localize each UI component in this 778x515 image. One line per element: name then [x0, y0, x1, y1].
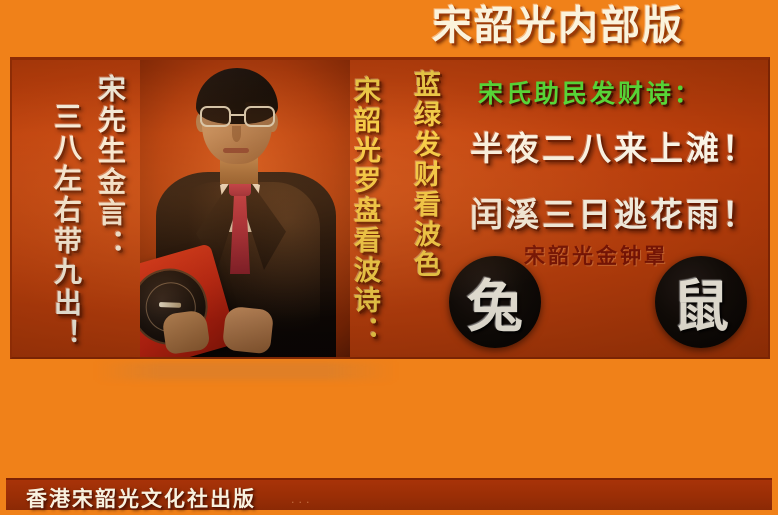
golden-bell-subtitle: 宋韶光金钟罩: [524, 240, 668, 270]
vertical-text-three-eight-left-right: 三八左右带九出！: [46, 102, 86, 350]
poster-root: 宋韶光内部版: [0, 0, 778, 515]
publisher-text: 香港宋韶光文化社出版: [26, 483, 256, 513]
hand-right: [222, 306, 274, 355]
mouth: [223, 148, 249, 153]
zodiac-rabbit-label: 兔: [449, 256, 541, 348]
lens-right: [244, 106, 275, 127]
zodiac-rabbit-badge: 兔: [449, 256, 541, 348]
vertical-text-blue-green-wealth: 蓝绿发财看波色: [405, 70, 444, 280]
wealth-poem-line-2: 闰溪三日逃花雨！: [470, 188, 758, 236]
vertical-text-mr-song-golden-words: 宋先生金言：: [90, 74, 130, 260]
footer-dots: ···: [291, 496, 314, 509]
portrait-photo: [140, 60, 350, 359]
compass-needle: [159, 302, 181, 308]
wealth-poem-heading: 宋氏助民发财诗：: [478, 74, 702, 110]
lens-left: [200, 106, 231, 127]
zodiac-rat-label: 鼠: [655, 256, 747, 348]
panel-drop-shadow: [96, 362, 396, 380]
zodiac-rat-badge: 鼠: [655, 256, 747, 348]
eyeglasses-icon: [198, 106, 278, 128]
wealth-poem-line-1: 半夜二八来上滩！: [470, 122, 758, 170]
header-band: 宋韶光内部版: [0, 0, 778, 56]
hand-left: [161, 309, 210, 355]
nose: [232, 126, 241, 142]
main-panel: 宋先生金言： 三八左右带九出！ 宋韶光罗盘看波诗： 蓝绿发财看波色 宋氏助民发财…: [10, 57, 770, 359]
footer-band: 香港宋韶光文化社出版 ···: [6, 478, 772, 510]
glasses-bridge: [231, 114, 244, 116]
page-title: 宋韶光内部版: [432, 2, 684, 50]
vertical-text-luopan-poem-heading: 宋韶光罗盘看波诗：: [345, 76, 384, 346]
